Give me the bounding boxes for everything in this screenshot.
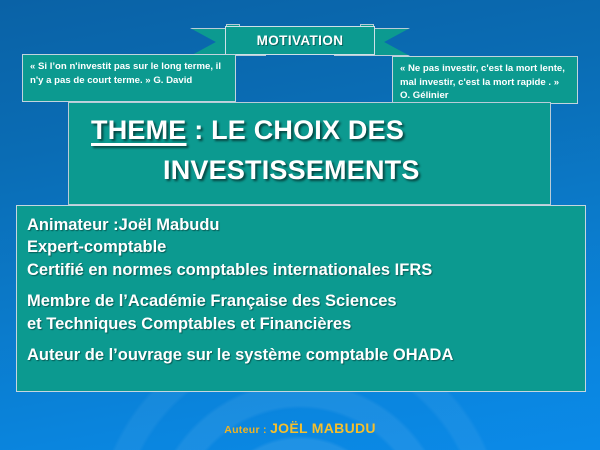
title-line-2: INVESTISSEMENTS [163, 155, 420, 186]
bio-spacer-1 [27, 281, 585, 290]
bio-line-certifie: Certifié en normes comptables internatio… [27, 259, 585, 281]
footer-author-name: JOËL MABUDU [270, 420, 376, 436]
footer-prefix: Auteur : [224, 424, 270, 436]
bio-spacer-2 [27, 335, 585, 344]
slide-footer: Auteur : JOËL MABUDU [0, 420, 600, 438]
quote-right-text: « Ne pas investir, c'est la mort lente, … [400, 63, 565, 101]
quote-box-right: « Ne pas investir, c'est la mort lente, … [392, 56, 578, 104]
presentation-slide: MOTIVATION « Si l’on n'investit pas sur … [0, 0, 600, 450]
title-line-1: THEME : LE CHOIX DES [91, 115, 404, 146]
title-separator: : [187, 115, 212, 145]
title-subject-line-1: LE CHOIX DES [211, 115, 404, 145]
bio-line-animateur: Animateur :Joël Mabudu [27, 214, 585, 236]
bio-line-auteur: Auteur de l’ouvrage sur le système compt… [27, 344, 585, 366]
quote-box-left: « Si l’on n'investit pas sur le long ter… [22, 54, 236, 102]
quote-left-text: « Si l’on n'investit pas sur le long ter… [30, 61, 221, 86]
ribbon-label: MOTIVATION [257, 33, 344, 48]
title-subject-line-2: INVESTISSEMENTS [163, 155, 420, 185]
title-panel: THEME : LE CHOIX DES INVESTISSEMENTS [68, 102, 551, 205]
title-theme-label: THEME [91, 115, 187, 145]
bio-line-techniques: et Techniques Comptables et Financières [27, 313, 585, 335]
motivation-ribbon: MOTIVATION [190, 24, 410, 58]
bio-line-membre: Membre de l’Académie Française des Scien… [27, 290, 585, 312]
ribbon-center-plate: MOTIVATION [225, 26, 375, 55]
bio-line-expert: Expert-comptable [27, 236, 585, 258]
presenter-bio-panel: Animateur :Joël Mabudu Expert-comptable … [16, 205, 586, 392]
